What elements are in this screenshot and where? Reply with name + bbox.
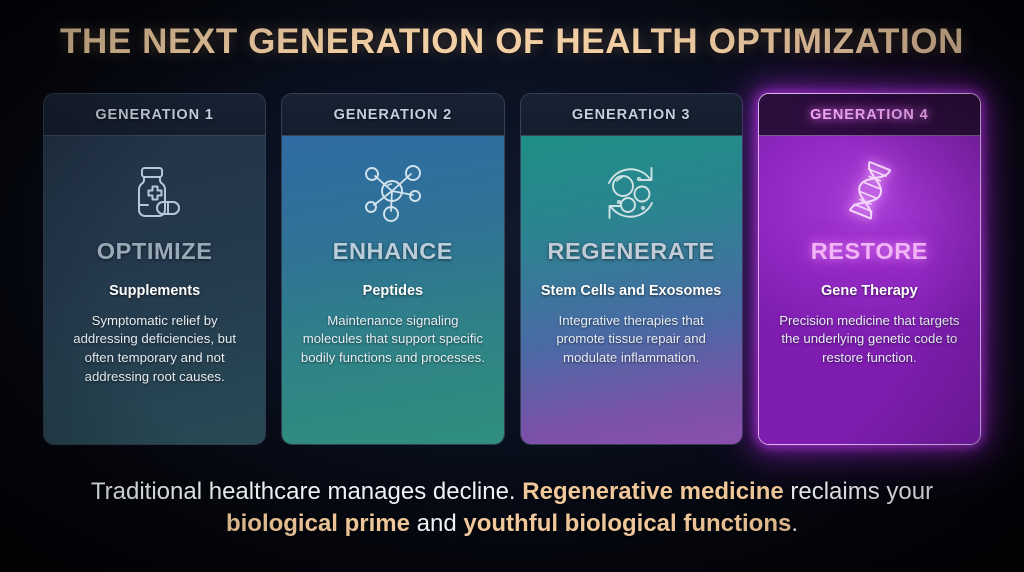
- dna-helix-icon: [840, 150, 898, 236]
- card-2-body: ENHANCE Peptides Maintenance signaling m…: [282, 136, 503, 444]
- card-2-headline: ENHANCE: [333, 238, 453, 265]
- card-1-header-label: GENERATION 1: [95, 107, 214, 123]
- card-2-description: Maintenance signaling molecules that sup…: [296, 312, 489, 368]
- generation-card-1[interactable]: GENERATION 1 OPTIMIZE Supplements Sympto…: [43, 93, 266, 445]
- generation-card-3[interactable]: GENERATION 3: [520, 93, 743, 445]
- card-1-body: OPTIMIZE Supplements Symptomatic relief …: [44, 136, 265, 444]
- cell-regeneration-icon: [598, 150, 664, 236]
- footer-highlight-1: Regenerative medicine: [522, 478, 783, 505]
- card-4-headline: RESTORE: [811, 238, 928, 265]
- card-3-subtitle: Stem Cells and Exosomes: [541, 282, 722, 301]
- generation-card-4[interactable]: GENERATION 4: [758, 93, 981, 445]
- card-1-subtitle: Supplements: [109, 282, 200, 301]
- footer-part-4: .: [791, 510, 798, 537]
- footer-highlight-3: youthful biological functions: [463, 510, 791, 537]
- card-4-subtitle: Gene Therapy: [821, 282, 918, 301]
- card-2-header-label: GENERATION 2: [334, 107, 453, 123]
- card-4-body: RESTORE Gene Therapy Precision medicine …: [759, 136, 980, 444]
- card-1-headline: OPTIMIZE: [97, 238, 213, 265]
- card-2-header-band: GENERATION 2: [282, 94, 503, 136]
- footer-part-2: reclaims your: [784, 478, 933, 505]
- footer-statement: Traditional healthcare manages decline. …: [0, 476, 1024, 540]
- generation-card-row: GENERATION 1 OPTIMIZE Supplements Sympto…: [43, 93, 981, 445]
- generation-card-2[interactable]: GENERATION 2: [281, 93, 504, 445]
- footer-part-3: and: [410, 510, 463, 537]
- card-3-header-label: GENERATION 3: [572, 107, 691, 123]
- molecule-icon: [361, 150, 425, 236]
- card-3-headline: REGENERATE: [547, 238, 714, 265]
- footer-highlight-2: biological prime: [226, 510, 410, 537]
- card-1-header-band: GENERATION 1: [44, 94, 265, 136]
- card-4-header-band: GENERATION 4: [759, 94, 980, 136]
- card-1-description: Symptomatic relief by addressing deficie…: [58, 312, 251, 387]
- pill-bottle-icon: [124, 150, 186, 236]
- card-3-body: REGENERATE Stem Cells and Exosomes Integ…: [521, 136, 742, 444]
- footer-part-1: Traditional healthcare manages decline.: [91, 478, 522, 505]
- card-2-subtitle: Peptides: [363, 282, 423, 301]
- card-4-header-label: GENERATION 4: [810, 107, 929, 123]
- card-3-description: Integrative therapies that promote tissu…: [535, 312, 728, 368]
- card-4-description: Precision medicine that targets the unde…: [773, 312, 966, 368]
- infographic-stage: THE NEXT GENERATION OF HEALTH OPTIMIZATI…: [0, 0, 1024, 572]
- page-title: THE NEXT GENERATION OF HEALTH OPTIMIZATI…: [0, 22, 1024, 62]
- card-3-header-band: GENERATION 3: [521, 94, 742, 136]
